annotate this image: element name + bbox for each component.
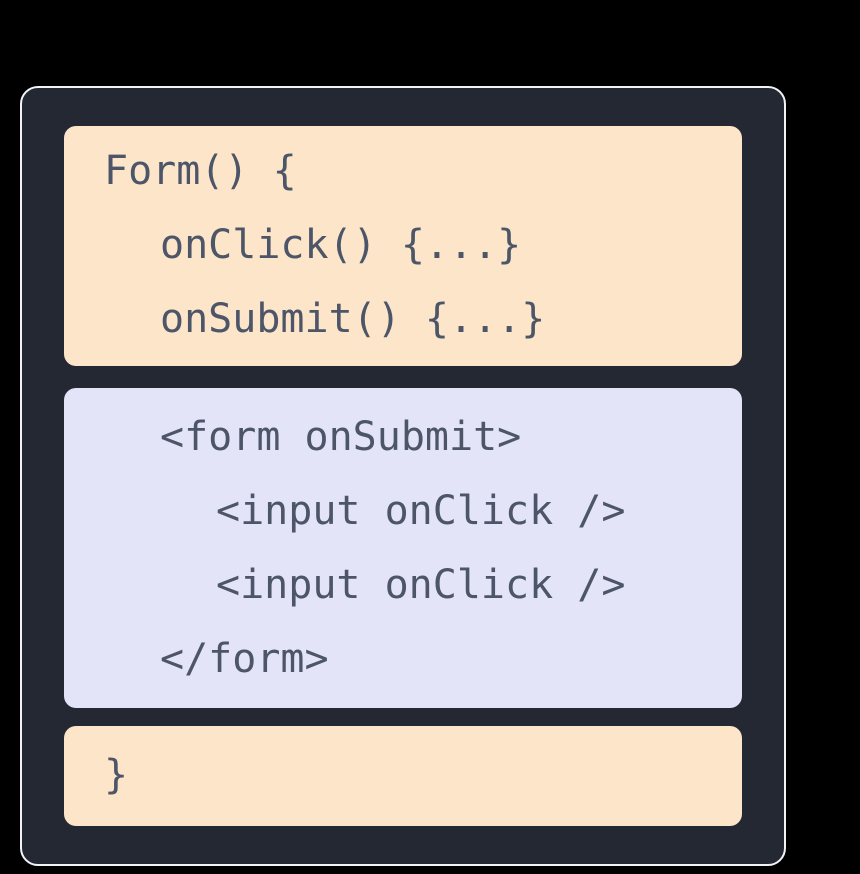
code-line: <input onClick /> [64,474,742,548]
code-line: onSubmit() {...} [64,282,742,356]
code-block-function-open: Form() { onClick() {...} onSubmit() {...… [64,126,742,366]
code-card: Form() { onClick() {...} onSubmit() {...… [20,86,786,866]
code-line: <input onClick /> [64,548,742,622]
code-block-jsx-markup: <form onSubmit> <input onClick /> <input… [64,388,742,708]
code-line: } [64,738,742,812]
code-block-function-close: } [64,726,742,826]
code-line: Form() { [64,134,742,208]
code-line: </form> [64,622,742,696]
code-line: <form onSubmit> [64,400,742,474]
code-line: onClick() {...} [64,208,742,282]
diagram-canvas: Form() { onClick() {...} onSubmit() {...… [0,0,860,874]
